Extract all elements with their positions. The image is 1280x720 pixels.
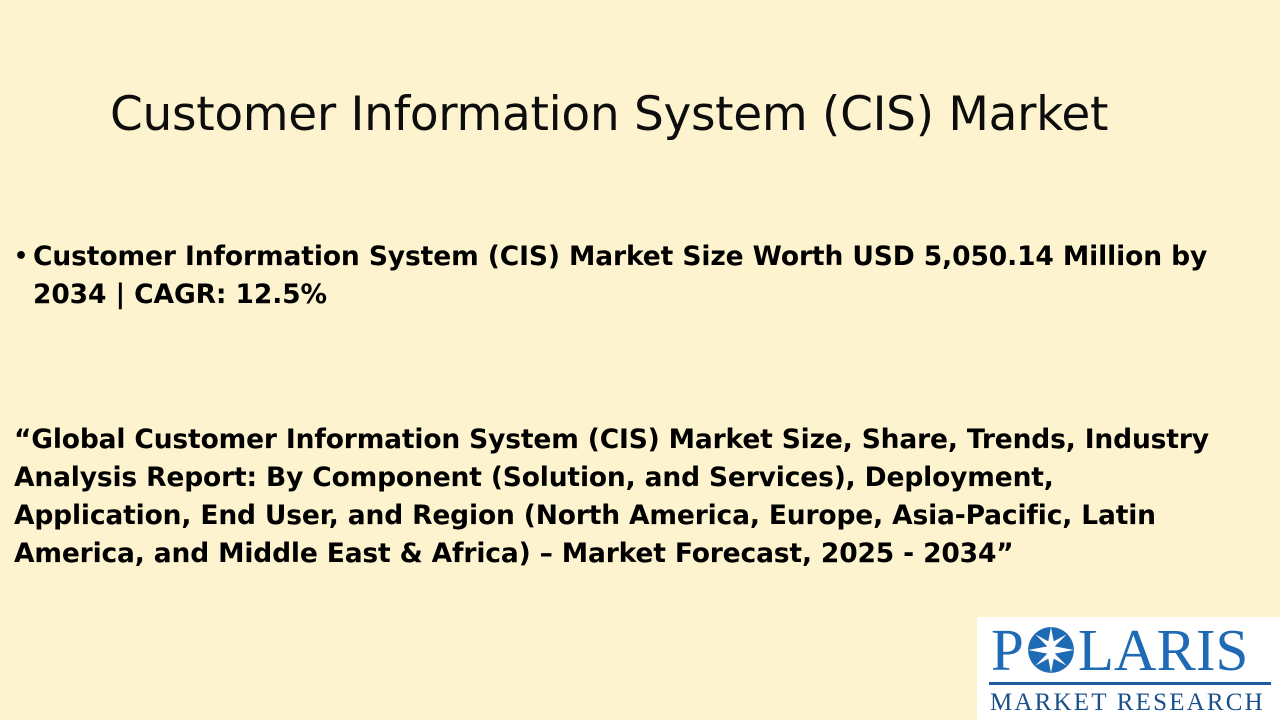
quote-line-2: Analysis Report: By Component (Solution,… (14, 459, 1262, 497)
quote-line-1: “Global Customer Information System (CIS… (14, 421, 1262, 459)
bullet-marker-icon: • (14, 238, 33, 276)
bullet-list: • Customer Information System (CIS) Mark… (14, 238, 1262, 314)
bullet-item-text: Customer Information System (CIS) Market… (33, 238, 1262, 314)
compass-star-icon (1025, 624, 1077, 676)
slide-canvas: Customer Information System (CIS) Market… (0, 0, 1280, 720)
logo-subtitle: MARKET RESEARCH (990, 687, 1275, 719)
page-title: Customer Information System (CIS) Market (110, 86, 1170, 144)
logo-wordmark: P LARIS (991, 619, 1248, 681)
list-item: • Customer Information System (CIS) Mark… (14, 238, 1262, 314)
quote-line-4: America, and Middle East & Africa) – Mar… (14, 535, 1262, 573)
logo-divider (989, 682, 1271, 685)
quote-line-3: Application, End User, and Region (North… (14, 497, 1262, 535)
logo-wordmark-after: LARIS (1078, 621, 1248, 680)
polaris-market-research-logo: P LARIS (977, 617, 1280, 720)
logo-wordmark-before: P (991, 621, 1024, 680)
report-title-quote: “Global Customer Information System (CIS… (14, 421, 1262, 573)
